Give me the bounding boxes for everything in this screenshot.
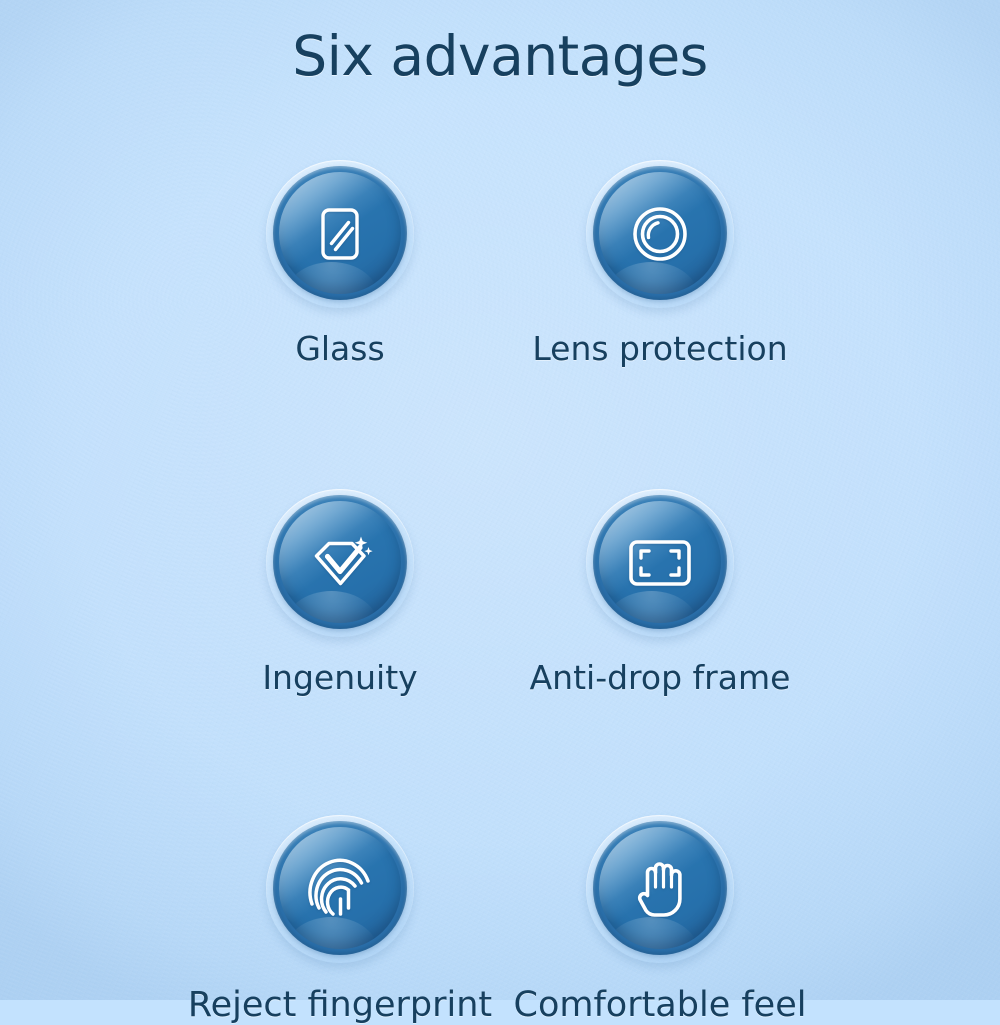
feature-item-anti-drop-frame[interactable]: Anti-drop frame [500, 489, 820, 697]
feature-item-lens-protection[interactable]: Lens protection [500, 160, 820, 368]
feature-label: Anti-drop frame [530, 660, 791, 697]
feature-icon-badge[interactable] [266, 489, 414, 637]
feature-item-glass[interactable]: Glass [180, 160, 500, 368]
camera-lens-icon [586, 160, 734, 308]
feature-label: Lens protection [532, 331, 787, 368]
feature-item-comfortable-feel[interactable]: Comfortable feel [500, 815, 820, 1025]
feature-label: Glass [295, 331, 384, 368]
feature-row: Ingenuity [0, 489, 1000, 697]
feature-grid: Glass [0, 160, 1000, 1025]
feature-icon-badge[interactable] [266, 815, 414, 963]
feature-icon-badge[interactable] [266, 160, 414, 308]
feature-label: Comfortable feel [514, 986, 807, 1025]
open-hand-icon [586, 815, 734, 963]
feature-poster: Six advantages [0, 0, 1000, 1000]
corner-brackets-frame-icon [586, 489, 734, 637]
fingerprint-icon [266, 815, 414, 963]
feature-icon-badge[interactable] [586, 815, 734, 963]
feature-item-ingenuity[interactable]: Ingenuity [180, 489, 500, 697]
page-title: Six advantages [0, 26, 1000, 87]
feature-row: Glass [0, 160, 1000, 368]
feature-item-reject-fingerprint[interactable]: Reject fingerprint [180, 815, 500, 1025]
glass-screen-icon [266, 160, 414, 308]
feature-row: Reject fingerprint [0, 815, 1000, 1025]
feature-icon-badge[interactable] [586, 489, 734, 637]
feature-label: Ingenuity [262, 660, 417, 697]
feature-icon-badge[interactable] [586, 160, 734, 308]
diamond-check-sparkle-icon [266, 489, 414, 637]
feature-label: Reject fingerprint [188, 986, 492, 1025]
